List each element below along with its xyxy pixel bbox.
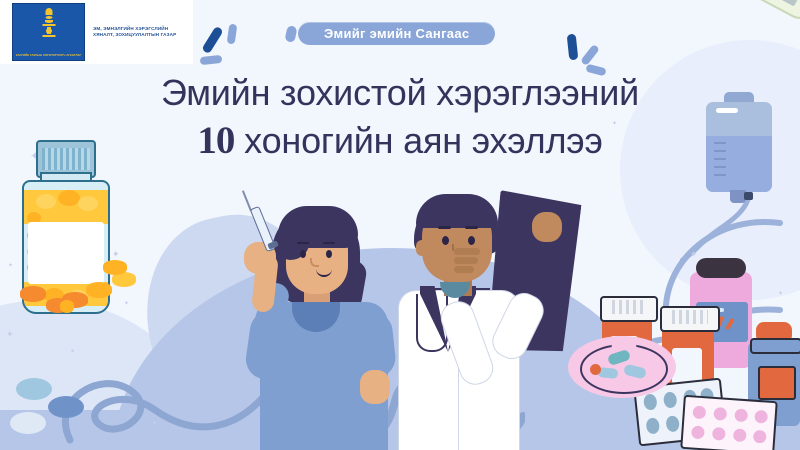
blue-tablet [16, 378, 52, 400]
iv-bag-nipple [744, 192, 753, 200]
doctor-hand-on-chin [450, 246, 486, 276]
loose-pill [20, 286, 46, 302]
loose-pill [60, 300, 74, 313]
digital-thermometer [664, 0, 800, 31]
confetti-dash-light [284, 25, 297, 43]
nurse-hand-right [360, 370, 390, 404]
doctor-brow-left [438, 226, 451, 229]
agency-name-line2: ХЯНАЛТ, ЗОХИЦУУЛАЛТЫН ГАЗАР [93, 32, 176, 38]
poster-canvas: ✦ ✦ ✦ ✦ ✦ ✦ ✦ ✦ ✦ ✦ ✦ ✦ ✦ ✦ ✦ ЗАС [0, 0, 800, 450]
loose-pill [103, 260, 127, 275]
sparkle-icon: ✦ [152, 420, 157, 429]
confetti-dash-dark [567, 34, 579, 61]
doctor-hand-right [532, 212, 562, 242]
doctor-with-xray [392, 190, 602, 450]
doctor-eye-left [442, 236, 449, 245]
doctor-brow-right [465, 226, 478, 229]
agency-logo-block: ЗАСГИЙН ГАЗРЫН ХЭРЭГЖҮҮЛЭГЧ АГЕНТЛАГ ЭМ,… [0, 0, 193, 64]
title-line-1: Эмийн зохистой хэрэглээний [0, 70, 800, 116]
sparkle-icon: ✦ [124, 300, 129, 309]
pink-pill-dish [568, 336, 676, 398]
iv-drip-bag [700, 92, 778, 212]
confetti-dash-light [200, 55, 223, 65]
blister-pack-pink [680, 395, 778, 450]
pill [78, 196, 98, 211]
nurse-nose [310, 258, 319, 267]
poster-title: Эмийн зохистой хэрэглээний 10 хоногийн а… [0, 70, 800, 166]
iv-bag-liquid [706, 136, 772, 192]
loose-pill [86, 282, 112, 298]
pill-bottle-label [28, 222, 104, 284]
title-line-2-rest: хоногийн аян эхэллээ [234, 120, 602, 161]
thermometer-body [669, 0, 800, 24]
nurse-brow-right [323, 242, 335, 244]
agency-name: ЭМ, ЭМНЭЛГИЙН ХЭРЭГСЛИЙН ХЯНАЛТ, ЗОХИЦУУ… [93, 26, 176, 38]
sparkle-icon: ✦ [70, 348, 75, 357]
blue-tablet [10, 412, 46, 434]
doctor-hair-top [416, 194, 498, 228]
confetti-dash-light [227, 24, 238, 45]
title-line-2: 10 хоногийн аян эхэллээ [0, 116, 800, 166]
pill [58, 190, 80, 206]
campaign-badge: Эмийг эмийн Сангаас [298, 22, 495, 45]
iv-bag-body [706, 102, 772, 192]
doctor-eye-right [468, 236, 475, 245]
sparkle-icon: ✦ [778, 290, 783, 299]
blue-tablet [48, 396, 84, 418]
emblem-caption: ЗАСГИЙН ГАЗРЫН ХЭРЭГЖҮҮЛЭГЧ АГЕНТЛАГ [13, 54, 84, 57]
iv-bag-slot [716, 108, 738, 113]
campaign-day-count: 10 [197, 119, 234, 162]
nurse-eye-right [326, 250, 332, 258]
nurse-eye-left [300, 250, 306, 258]
confetti-dash-dark [201, 26, 223, 55]
sparkle-icon: ✦ [6, 330, 14, 339]
pill [36, 194, 56, 209]
soyombo-emblem-icon: ЗАСГИЙН ГАЗРЫН ХЭРЭГЖҮҮЛЭГЧ АГЕНТЛАГ [12, 3, 85, 61]
soyombo-symbol-icon [38, 8, 60, 42]
confetti-dash-light [580, 44, 600, 66]
nurse-brow-left [297, 242, 309, 244]
round-pill [590, 364, 601, 375]
nurse-with-syringe [230, 198, 400, 450]
